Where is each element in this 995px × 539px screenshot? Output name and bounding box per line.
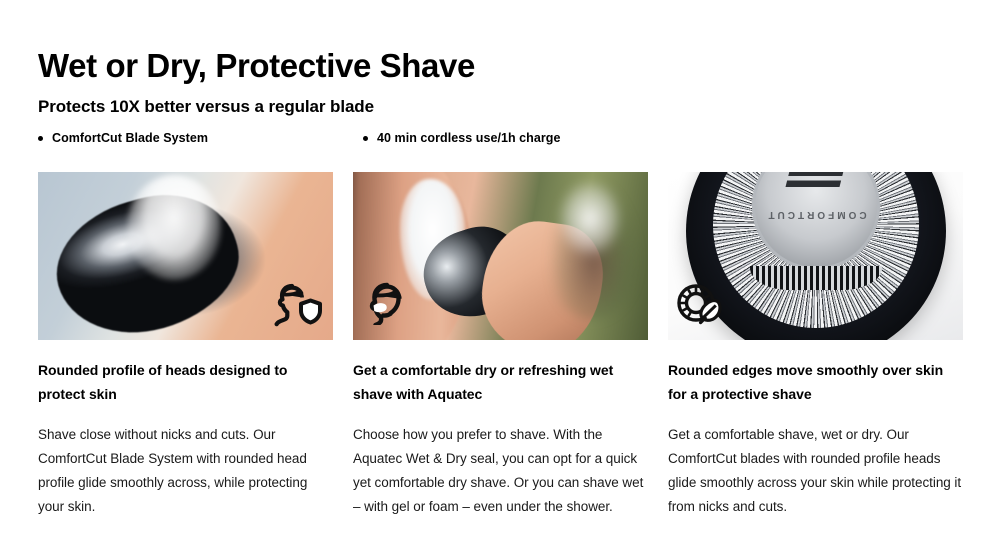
blade-feather-icon [674,281,724,334]
page-subtitle: Protects 10X better versus a regular bla… [38,96,374,118]
feature-body: Choose how you prefer to shave. With the… [353,423,648,519]
feature-body: Shave close without nicks and cuts. Our … [38,423,333,519]
feature-bullet-label: ComfortCut Blade System [52,131,208,145]
feature-image-comfortcut-head: COMFORTCUT [668,172,963,340]
philips-logo-mark [785,172,846,187]
face-shield-icon [272,282,324,333]
photo-background-man-shape [542,179,642,320]
product-engraving-label: COMFORTCUT [758,209,874,220]
feature-column-protect-skin: Rounded profile of heads designed to pro… [38,172,333,519]
feature-image-man-shaving [353,172,648,340]
feature-column-rounded-edges: COMFORTCUT [668,172,963,519]
feature-column-aquatec: Get a comfortable dry or refreshing wet … [353,172,648,519]
feature-image-shaver-foam [38,172,333,340]
feature-columns: Rounded profile of heads designed to pro… [38,172,958,519]
page-title: Wet or Dry, Protective Shave [38,46,475,86]
feature-heading: Get a comfortable dry or refreshing wet … [353,358,648,406]
bullet-dot-icon [363,136,368,141]
feature-bullet-label: 40 min cordless use/1h charge [377,131,560,145]
feature-heading: Rounded edges move smoothly over skin fo… [668,358,963,406]
face-foam-icon [367,281,407,330]
feature-heading: Rounded profile of heads designed to pro… [38,358,333,406]
feature-body: Get a comfortable shave, wet or dry. Our… [668,423,963,519]
shaver-head-teeth [750,266,882,290]
bullet-dot-icon [38,136,43,141]
feature-bullet-comfortcut: ComfortCut Blade System [38,131,363,145]
product-feature-page: Wet or Dry, Protective Shave Protects 10… [0,0,995,539]
feature-bullet-list: ComfortCut Blade System 40 min cordless … [38,131,958,145]
feature-bullet-battery: 40 min cordless use/1h charge [363,131,560,145]
